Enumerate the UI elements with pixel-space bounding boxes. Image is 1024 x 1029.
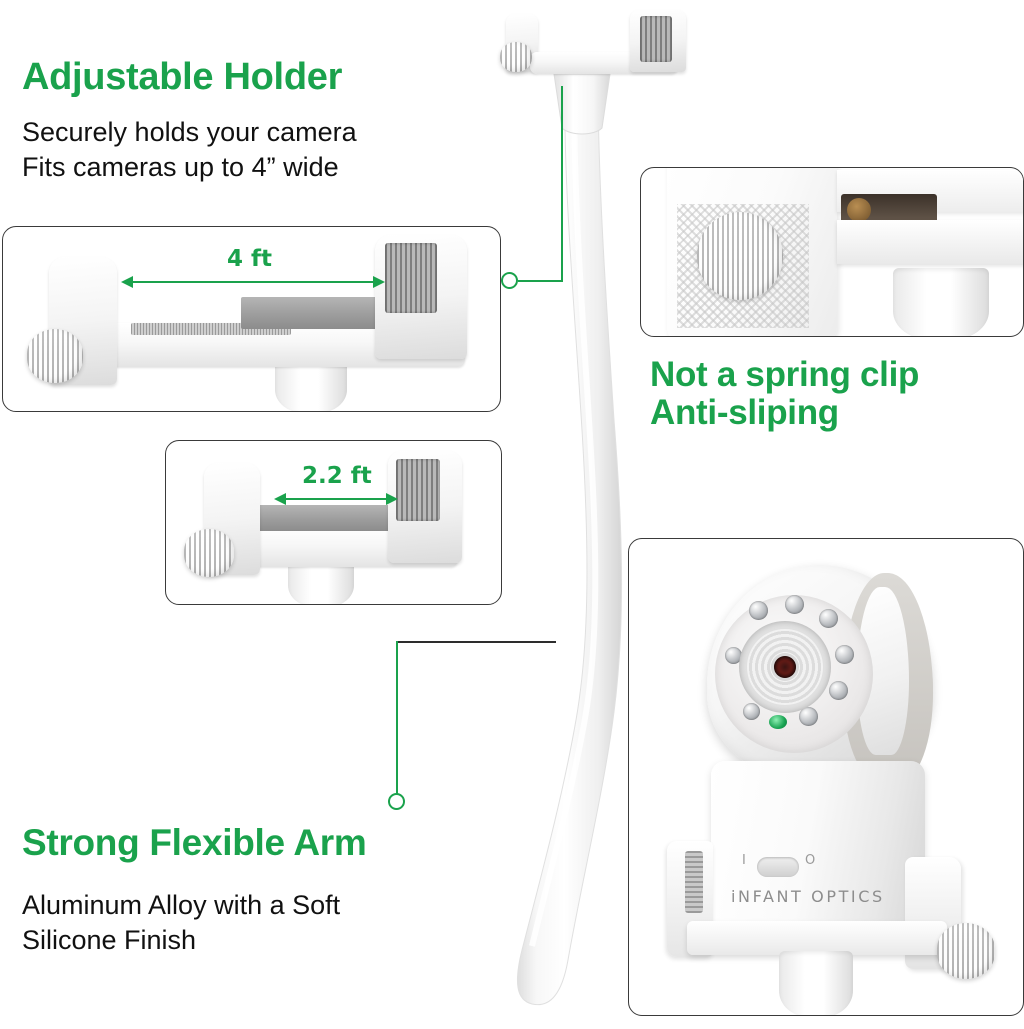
ir-led-icon bbox=[819, 609, 838, 628]
dimension-arrow-left bbox=[121, 276, 133, 288]
body-strong-flexible-arm: Aluminum Alloy with a Soft Silicone Fini… bbox=[22, 888, 340, 958]
switch-off-mark: O bbox=[805, 853, 815, 868]
callout-arm-dot bbox=[388, 793, 405, 810]
panel-holder-narrow: 2.2 ft bbox=[165, 440, 502, 605]
dimension-arrow-right bbox=[386, 493, 398, 505]
holder-top-center bbox=[500, 8, 700, 98]
ir-led-icon bbox=[743, 703, 760, 720]
panel-camera-mounted: I O iNFANT OPTICS bbox=[628, 538, 1024, 1016]
anti-slip-pad bbox=[640, 16, 672, 62]
arm-shaft bbox=[517, 78, 621, 1005]
ir-led-icon bbox=[785, 595, 804, 614]
dimension-label-22ft: 2.2 ft bbox=[302, 463, 372, 489]
dimension-label-4ft: 4 ft bbox=[227, 246, 272, 272]
dimension-line-22ft bbox=[284, 498, 394, 500]
ir-led-icon bbox=[835, 645, 854, 664]
panel-camera-photo: I O iNFANT OPTICS bbox=[629, 539, 1023, 1015]
panel-holder-wide-photo: 4 ft bbox=[3, 227, 500, 411]
ir-led-icon bbox=[829, 681, 848, 700]
ir-led-icon bbox=[749, 601, 768, 620]
screw-head-icon bbox=[847, 198, 871, 222]
callout-arm-line-horizontal bbox=[396, 641, 556, 643]
panel-clamp-photo bbox=[641, 168, 1023, 336]
callout-arm-line-vertical bbox=[396, 641, 398, 801]
switch-on-mark: I bbox=[742, 853, 746, 868]
callout-holder-dot bbox=[501, 272, 518, 289]
anti-slip-pad bbox=[685, 851, 703, 913]
callout-holder-line-horizontal bbox=[518, 280, 563, 282]
tightening-knob[interactable] bbox=[184, 529, 234, 577]
dimension-line-4ft bbox=[131, 281, 381, 283]
anti-slip-pad bbox=[396, 459, 440, 521]
panel-holder-narrow-photo: 2.2 ft bbox=[166, 441, 501, 604]
anti-slip-pad bbox=[385, 243, 437, 313]
status-indicator-led bbox=[769, 715, 787, 729]
heading-strong-flexible-arm: Strong Flexible Arm bbox=[22, 823, 366, 863]
tightening-knob[interactable] bbox=[937, 923, 995, 979]
panel-clamp-closeup bbox=[640, 167, 1024, 337]
infographic-canvas: Adjustable Holder Securely holds your ca… bbox=[0, 0, 1024, 1024]
clamp-lower-bar bbox=[837, 220, 1024, 264]
callout-holder-line-vertical bbox=[561, 86, 563, 281]
panel-holder-wide: 4 ft bbox=[2, 226, 501, 412]
ir-led-icon bbox=[799, 707, 818, 726]
heading-adjustable-holder: Adjustable Holder bbox=[22, 57, 342, 98]
body-adjustable-holder: Securely holds your camera Fits cameras … bbox=[22, 115, 357, 185]
tightening-knob[interactable] bbox=[27, 329, 83, 383]
tightening-knob[interactable] bbox=[697, 212, 783, 300]
arm-collar-stub bbox=[779, 951, 853, 1016]
heading-not-spring-clip: Not a spring clip Anti-sliping bbox=[650, 356, 919, 432]
tightening-knob[interactable] bbox=[500, 42, 532, 72]
camera-brand-label: iNFANT OPTICS bbox=[731, 887, 885, 906]
dimension-arrow-left bbox=[274, 493, 286, 505]
camera-body bbox=[711, 761, 925, 933]
camera-lens bbox=[774, 656, 796, 678]
arm-collar-stub bbox=[893, 268, 989, 337]
power-switch[interactable] bbox=[757, 857, 799, 877]
dimension-arrow-right bbox=[373, 276, 385, 288]
holder-crossbar bbox=[687, 921, 947, 955]
